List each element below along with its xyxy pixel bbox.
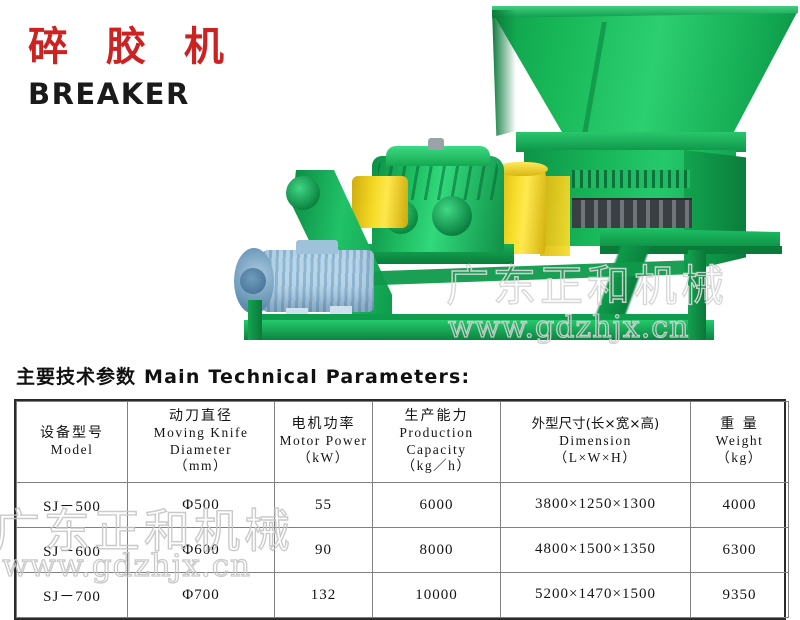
col-header-model: 设备型号 Model (17, 402, 128, 483)
cell-model: SJ－600 (17, 528, 128, 573)
frame-leg-right (688, 250, 706, 340)
col-header-capacity-unit: （kg／h） (375, 458, 498, 475)
table-row: SJ－500Φ5005560003800×1250×13001400×1200×… (17, 483, 789, 528)
cell-motor-power: 55 (275, 483, 373, 528)
product-title-chinese: 碎 胶 机 (28, 26, 236, 68)
col-header-weight: 重 量 Weight （kg） (691, 402, 789, 483)
table-row: SJ－700Φ700132100005200×1470×15002300×320… (17, 573, 789, 618)
col-header-dimension-cn: 外型尺寸(长×宽×高) (503, 416, 688, 434)
cell-dimension: 3800×1250×13001400×1200×1300 (501, 483, 691, 528)
spec-heading-chinese: 主要技术参数 (16, 366, 136, 388)
col-header-power-en: Motor Power (277, 433, 370, 449)
spec-table-container: 设备型号 Model 动刀直径 Moving KnifeDiameter （mm… (14, 399, 786, 620)
frame-leg-left (248, 300, 262, 340)
col-header-knife-cn: 动刀直径 (130, 407, 272, 425)
product-title-block: 碎 胶 机 BREAKER (28, 26, 236, 109)
dimension-line-1: 5200×1470×1500 (535, 586, 656, 602)
col-header-knife-diameter: 动刀直径 Moving KnifeDiameter （mm） (128, 402, 275, 483)
col-header-weight-unit: （kg） (693, 450, 786, 467)
cell-capacity: 8000 (373, 528, 501, 573)
col-header-knife-en: Moving KnifeDiameter (130, 425, 272, 458)
belt-pulley-hub (286, 176, 320, 210)
dimension-line-1: 4800×1500×1350 (535, 541, 656, 557)
motor-fan-hub (240, 268, 266, 294)
spec-heading-english: Main Technical Parameters: (144, 366, 470, 388)
gearbox-breather-cap (428, 138, 444, 150)
cell-capacity: 10000 (373, 573, 501, 618)
gearbox-flange-right (432, 196, 472, 236)
frame-base-rail (244, 320, 714, 340)
product-title-english: BREAKER (28, 80, 236, 109)
cell-motor-power: 132 (275, 573, 373, 618)
col-header-dimension-en: Dimension (503, 433, 688, 449)
crusher-blades (572, 198, 692, 228)
cell-weight: 6300 (691, 528, 789, 573)
col-header-dimension-unit: （L×W×H） (503, 450, 688, 467)
specifications-table: 设备型号 Model 动刀直径 Moving KnifeDiameter （mm… (16, 401, 789, 618)
cell-knife-diameter: Φ500 (128, 483, 275, 528)
cell-weight: 4000 (691, 483, 789, 528)
frame-diagonal-brace (560, 246, 680, 324)
cell-dimension: 4800×1500×13503100×2000×1100 (501, 528, 691, 573)
cell-weight: 9350 (691, 573, 789, 618)
coupling-guard-motor (352, 176, 408, 228)
hopper-funnel (492, 8, 798, 138)
spec-heading: 主要技术参数Main Technical Parameters: (16, 362, 800, 389)
cell-motor-power: 90 (275, 528, 373, 573)
col-header-capacity-cn: 生产能力 (375, 407, 498, 425)
col-header-motor-power: 电机功率 Motor Power （kW） (275, 402, 373, 483)
table-header-row: 设备型号 Model 动刀直径 Moving KnifeDiameter （mm… (17, 402, 789, 483)
motor-terminal-box (296, 240, 338, 254)
cell-model: SJ－700 (17, 573, 128, 618)
cell-dimension: 5200×1470×15002300×3200×1500 (501, 573, 691, 618)
dimension-line-1: 3800×1250×1300 (535, 496, 656, 512)
hopper-inner-shadow (492, 10, 516, 136)
col-header-model-en: Model (19, 442, 125, 458)
col-header-capacity: 生产能力 ProductionCapacity （kg／h） (373, 402, 501, 483)
crusher-collar (516, 132, 746, 152)
cell-capacity: 6000 (373, 483, 501, 528)
col-header-dimension: 外型尺寸(长×宽×高) Dimension （L×W×H） (501, 402, 691, 483)
col-header-knife-unit: （mm） (130, 458, 272, 475)
col-header-power-cn: 电机功率 (277, 415, 370, 433)
col-header-power-unit: （kW） (277, 450, 370, 467)
col-header-weight-en: Weight (693, 433, 786, 449)
col-header-capacity-en: ProductionCapacity (375, 425, 498, 458)
table-row: SJ－600Φ6009080004800×1500×13503100×2000×… (17, 528, 789, 573)
electric-motor-body (262, 250, 374, 312)
spec-table-body: SJ－500Φ5005560003800×1250×13001400×1200×… (17, 483, 789, 618)
cell-model: SJ－500 (17, 483, 128, 528)
crusher-screen (572, 170, 690, 188)
cell-knife-diameter: Φ700 (128, 573, 275, 618)
col-header-weight-cn: 重 量 (693, 415, 786, 433)
col-header-model-cn: 设备型号 (19, 424, 125, 442)
coupling-guard-main (498, 168, 546, 254)
specifications-section: 主要技术参数Main Technical Parameters: 设备型号 Mo… (0, 362, 800, 620)
cell-knife-diameter: Φ600 (128, 528, 275, 573)
